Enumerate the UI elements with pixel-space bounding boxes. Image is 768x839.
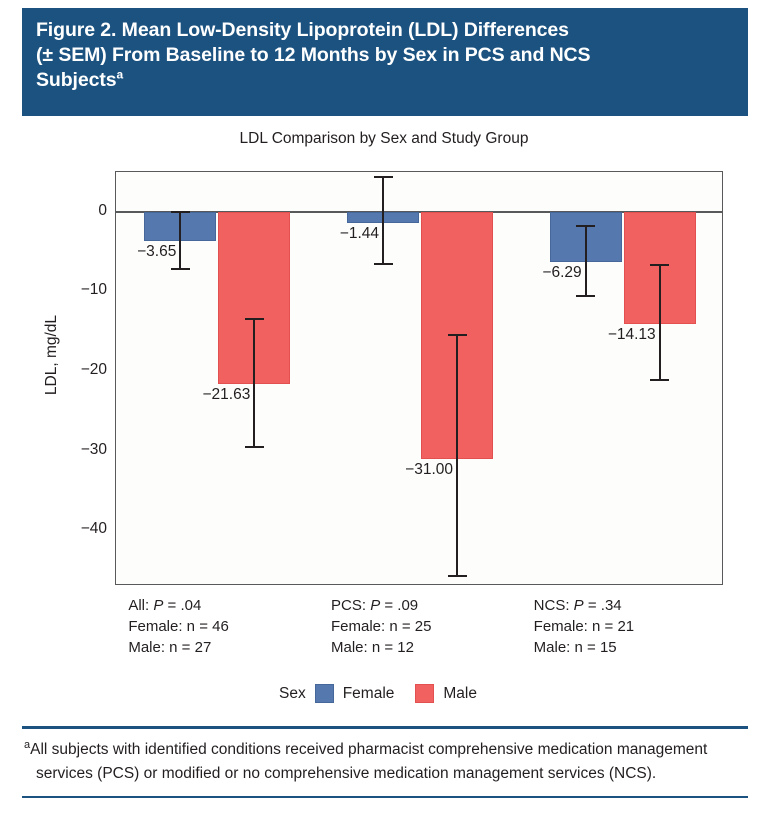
error-bar-stem <box>382 177 384 264</box>
group-female-n: Female: n = 25 <box>331 616 431 637</box>
bar-value-label-ncs-male: −14.13 <box>584 326 656 344</box>
group-note-ncs: NCS: P = .34Female: n = 21Male: n = 15 <box>534 595 634 658</box>
group-male-n: Male: n = 15 <box>534 637 634 658</box>
footnote-body: All subjects with identified conditions … <box>30 741 707 782</box>
group-male-n: Male: n = 27 <box>128 637 228 658</box>
chart-legend: Sex Female Male <box>0 684 768 703</box>
legend-label-male: Male <box>443 685 477 703</box>
figure-title-line-3: Subjects <box>36 69 116 91</box>
error-bar-cap <box>448 575 467 577</box>
group-pvalue: NCS: P = .34 <box>534 595 634 616</box>
group-note-pcs: PCS: P = .09Female: n = 25Male: n = 12 <box>331 595 431 658</box>
error-bar-ncs-male <box>624 172 696 586</box>
figure-title-text: Figure 2. Mean Low-Density Lipoprotein (… <box>36 18 734 93</box>
legend-swatch-female-icon <box>315 684 334 703</box>
bar-value-label-pcs-male: −31.00 <box>381 461 453 479</box>
error-bar-stem <box>456 335 458 576</box>
chart-container: LDL Comparison by Sex and Study Group 0−… <box>0 116 768 720</box>
y-axis-tick-label: −20 <box>81 361 107 379</box>
y-axis-tick-label: −30 <box>81 441 107 459</box>
error-bar-cap <box>171 211 190 213</box>
error-bar-pcs-male <box>421 172 493 586</box>
group-note-all: All: P = .04Female: n = 46Male: n = 27 <box>128 595 228 658</box>
error-bar-cap <box>576 225 595 227</box>
error-bar-cap <box>374 176 393 178</box>
p-symbol: P <box>153 597 163 614</box>
figure-title-line-1: Figure 2. Mean Low-Density Lipoprotein (… <box>36 19 569 41</box>
error-bar-cap <box>576 295 595 297</box>
y-axis-tick-labels: 0−10−20−30−40 <box>55 171 107 585</box>
p-symbol: P <box>574 597 584 614</box>
footnote-bottom-rule <box>22 796 748 799</box>
error-bar-cap <box>448 334 467 336</box>
legend-item-male[interactable]: Male <box>415 684 477 703</box>
error-bar-stem <box>253 319 255 447</box>
error-bar-cap <box>171 268 190 270</box>
figure-title-banner: Figure 2. Mean Low-Density Lipoprotein (… <box>22 8 748 116</box>
bar-value-label-ncs-female: −6.29 <box>510 264 582 282</box>
chart-title: LDL Comparison by Sex and Study Group <box>0 130 768 148</box>
y-axis-tick-label: 0 <box>98 202 107 220</box>
error-bar-cap <box>374 263 393 265</box>
error-bar-cap <box>650 379 669 381</box>
footnote-block: aAll subjects with identified conditions… <box>22 726 748 798</box>
error-bar-cap <box>650 264 669 266</box>
bar-value-label-all-male: −21.63 <box>178 386 250 404</box>
legend-item-female[interactable]: Female <box>315 684 395 703</box>
plot-area: −3.65−21.63−1.44−31.00−6.29−14.13 <box>115 171 723 585</box>
error-bar-ncs-female <box>550 172 622 586</box>
legend-swatch-male-icon <box>415 684 434 703</box>
figure-title-line-2: (± SEM) From Baseline to 12 Months by Se… <box>36 44 590 66</box>
bar-value-label-pcs-female: −1.44 <box>307 225 379 243</box>
error-bar-cap <box>245 446 264 448</box>
group-female-n: Female: n = 46 <box>128 616 228 637</box>
figure-title-footnote-marker: a <box>116 68 123 82</box>
bar-value-label-all-female: −3.65 <box>104 243 176 261</box>
error-bar-stem <box>585 226 587 296</box>
legend-label-female: Female <box>343 685 395 703</box>
group-pvalue: All: P = .04 <box>128 595 228 616</box>
group-male-n: Male: n = 12 <box>331 637 431 658</box>
legend-title: Sex <box>279 685 306 703</box>
group-pvalue: PCS: P = .09 <box>331 595 431 616</box>
error-bar-stem <box>659 265 661 380</box>
error-bar-all-female <box>144 172 216 586</box>
y-axis-tick-label: −40 <box>81 520 107 538</box>
footnote-text: aAll subjects with identified conditions… <box>34 729 748 796</box>
error-bar-stem <box>179 212 181 269</box>
group-female-n: Female: n = 21 <box>534 616 634 637</box>
error-bar-all-male <box>218 172 290 586</box>
p-symbol: P <box>370 597 380 614</box>
y-axis-tick-label: −10 <box>81 281 107 299</box>
y-axis-title: LDL, mg/dL <box>43 275 61 435</box>
error-bar-cap <box>245 318 264 320</box>
